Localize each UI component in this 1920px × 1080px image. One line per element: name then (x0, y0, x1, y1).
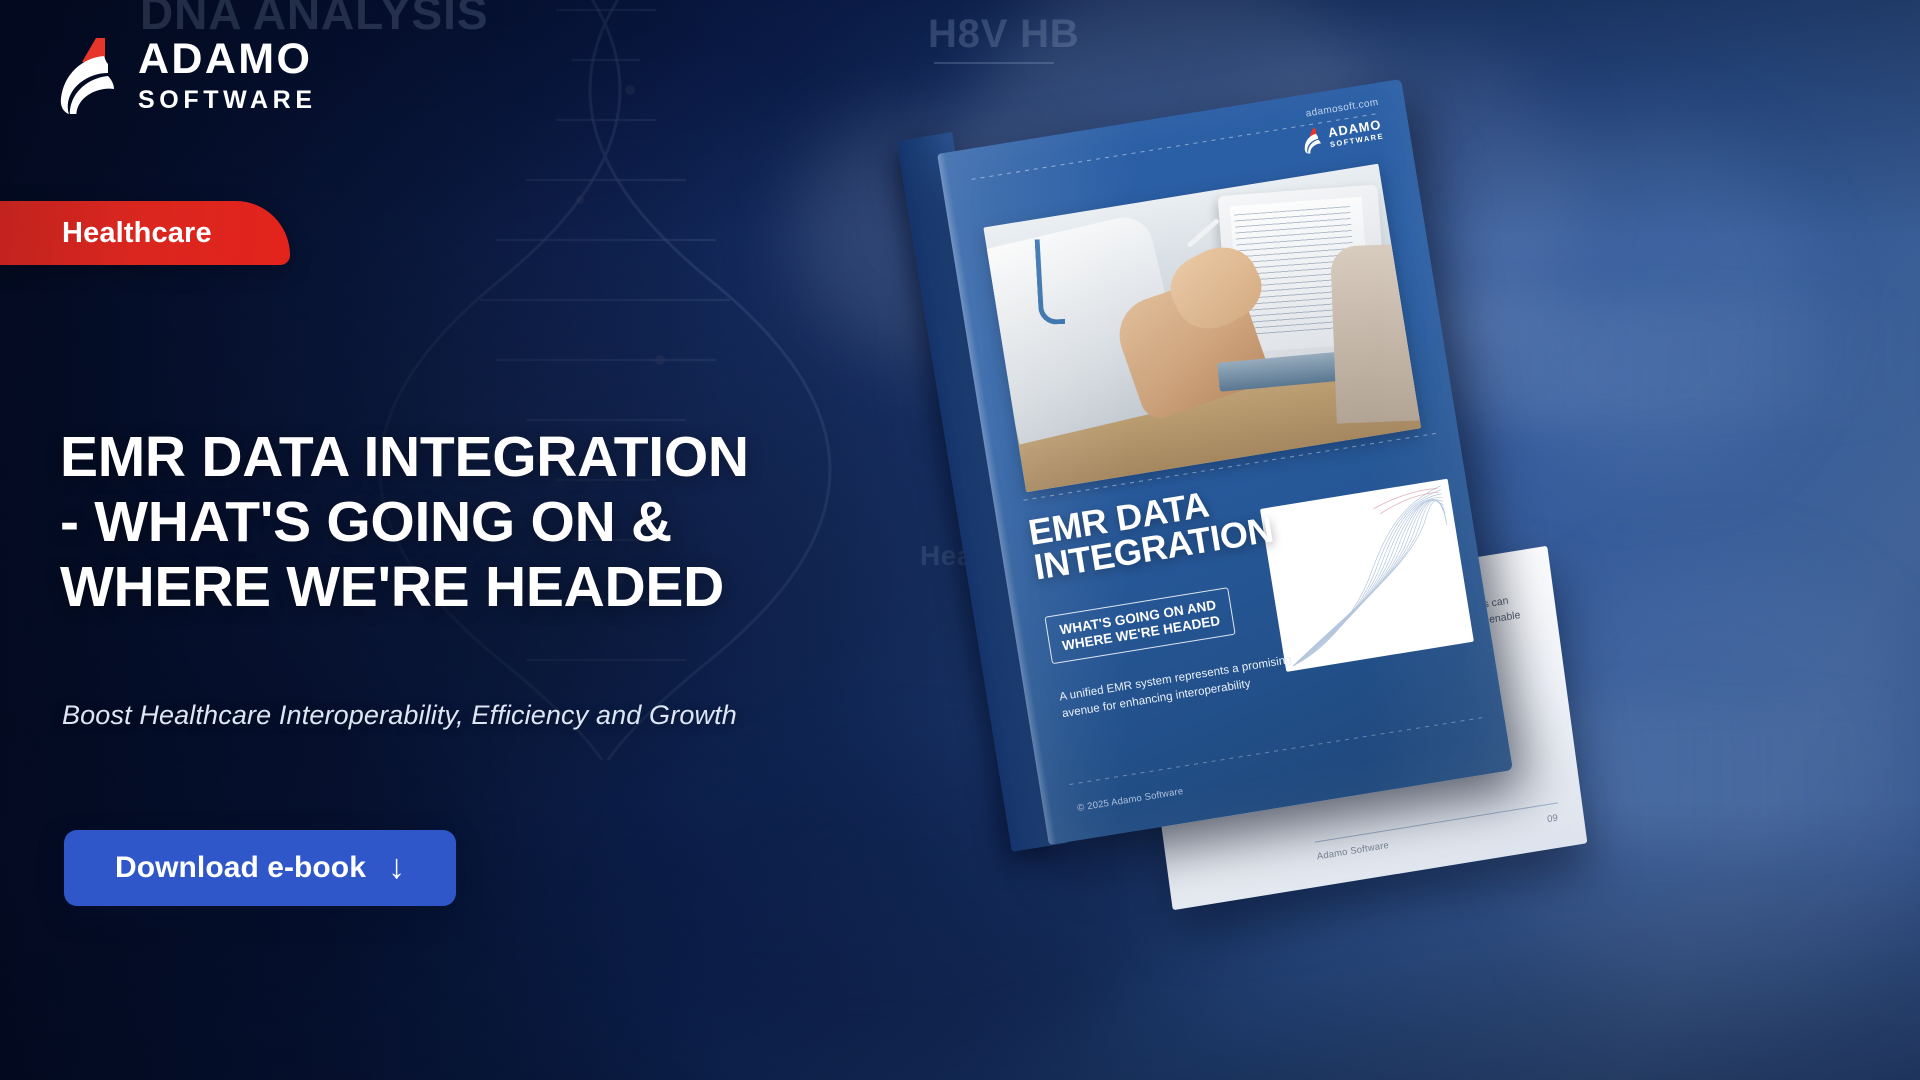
page-number: 09 (1547, 813, 1559, 826)
background-ghost-text-dna: DNA ANALYSIS (140, 0, 488, 40)
adamo-logo[interactable]: ADAMO SOFTWARE (52, 36, 317, 114)
category-badge-label: Healthcare (62, 217, 212, 250)
logo-name-bottom: SOFTWARE (138, 88, 317, 113)
background-ghost-rule (934, 62, 1054, 64)
cover-website-url: adamosoft.com (1305, 97, 1379, 120)
page-subtitle: Boost Healthcare Interoperability, Effic… (62, 700, 737, 731)
background-ghost-text-hr: H8V HB (928, 12, 1080, 57)
headline-line-2: - WHAT'S GOING ON & (60, 490, 970, 555)
cover-description: A unified EMR system represents a promis… (1058, 650, 1310, 723)
adamo-swoosh-icon (52, 36, 122, 114)
ebook-promo-banner: DNA ANALYSIS H8V HB Heart rate ADAMO SOF… (0, 0, 1920, 1080)
logo-name-top: ADAMO (138, 38, 317, 81)
headline-line-1: EMR DATA INTEGRATION (60, 425, 970, 490)
arrow-down-icon: ↓ (388, 850, 405, 884)
download-ebook-label: Download e-book (115, 851, 366, 885)
cover-adamo-logo: ADAMO SOFTWARE (1298, 117, 1384, 155)
cover-subtitle-badge: WHAT'S GOING ON AND WHERE WE'RE HEADED (1044, 587, 1235, 664)
headline-line-3: WHERE WE'RE HEADED (60, 555, 970, 620)
adamo-swoosh-icon (1298, 126, 1324, 154)
page-title: EMR DATA INTEGRATION - WHAT'S GOING ON &… (60, 425, 970, 620)
cover-dotted-rule-3 (1069, 717, 1482, 785)
cover-photo (983, 164, 1421, 493)
cover-copyright: © 2025 Adamo Software (1077, 786, 1184, 814)
category-badge: Healthcare (0, 201, 290, 265)
ebook-mockup[interactable]: strategic foundations in place, organiza… (1000, 70, 1620, 900)
download-ebook-button[interactable]: Download e-book ↓ (64, 830, 456, 906)
